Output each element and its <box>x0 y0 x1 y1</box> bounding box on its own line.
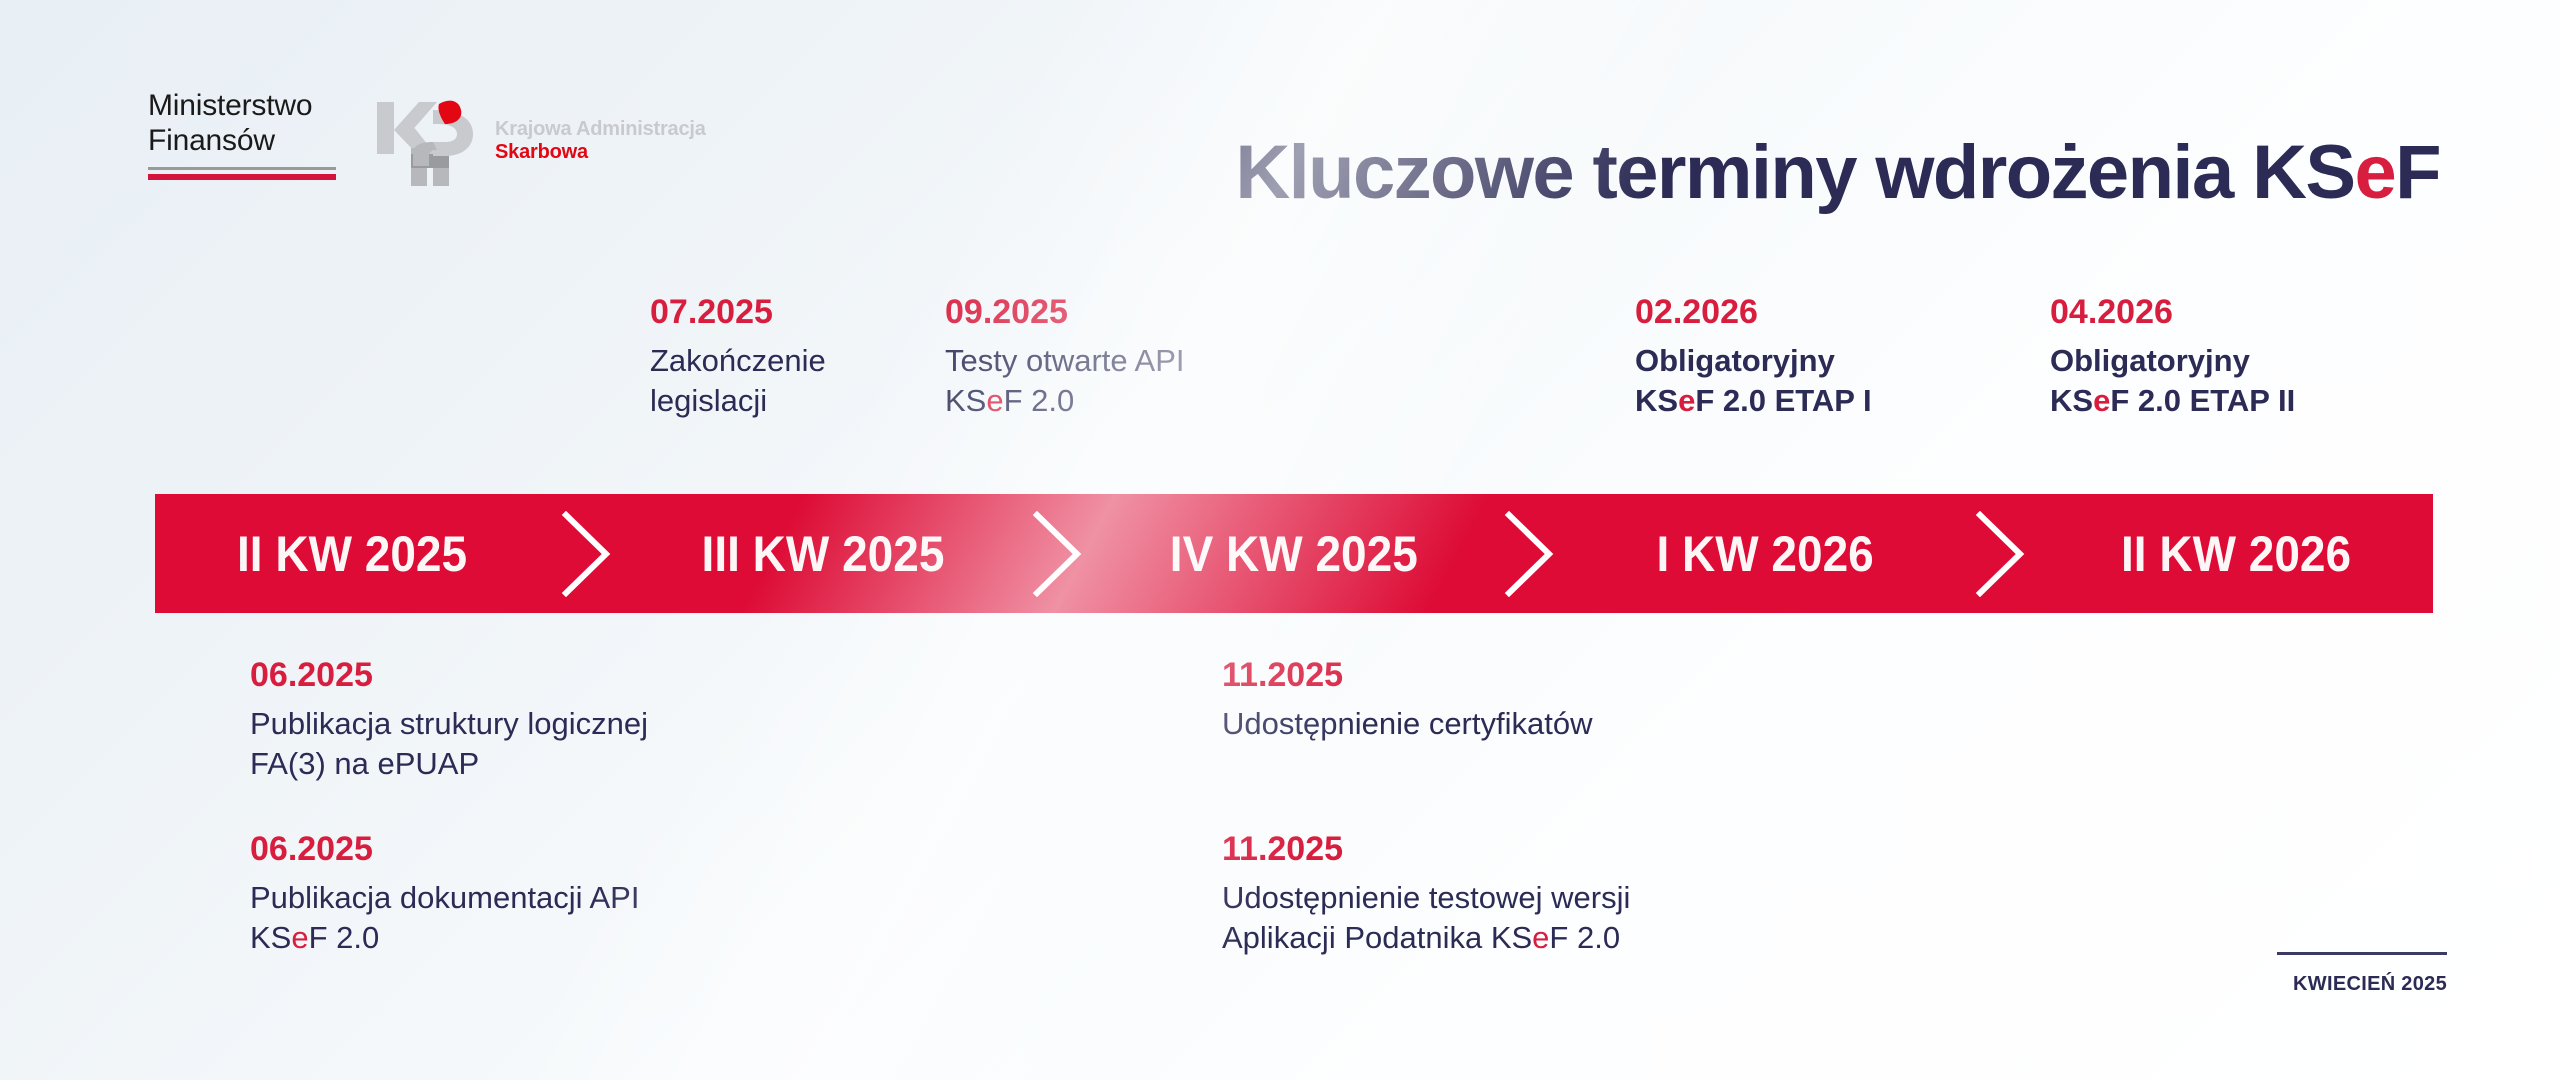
milestone-description: Testy otwarte APIKSeF 2.0 <box>945 341 1305 421</box>
milestone-text-line: KSeF 2.0 <box>250 918 870 958</box>
milestone-text-line: Zakończenie <box>650 341 930 381</box>
footer: KWIECIEŃ 2025 <box>2247 952 2447 996</box>
milestone-text-line: KSeF 2.0 <box>945 381 1305 421</box>
infographic-root: Ministerstwo Finansów <box>0 0 2560 1080</box>
milestone-06-2025: 06.2025Publikacja struktury logicznejFA(… <box>250 655 870 784</box>
milestone-text-highlight: e <box>2093 383 2110 418</box>
milestone-date: 07.2025 <box>650 292 930 332</box>
milestone-text-line: FA(3) na ePUAP <box>250 744 870 784</box>
milestone-text-run: Obligatoryjny <box>2050 343 2250 378</box>
timeline-segment: I KW 2026 <box>1569 494 1962 613</box>
milestone-text-line: Publikacja dokumentacji API <box>250 878 870 918</box>
timeline-segment-label: III KW 2025 <box>701 525 944 583</box>
milestone-04-2026: 04.2026ObligatoryjnyKSeF 2.0 ETAP II <box>2050 292 2450 421</box>
kas-logo: Krajowa Administracja Skarbowa <box>375 96 715 188</box>
milestone-description: Publikacja dokumentacji APIKSeF 2.0 <box>250 878 870 958</box>
milestone-07-2025: 07.2025Zakończenielegislacji <box>650 292 930 421</box>
milestone-11-2025: 11.2025Udostępnienie certyfikatów <box>1222 655 1842 744</box>
milestone-date: 04.2026 <box>2050 292 2450 332</box>
milestone-text-run: legislacji <box>650 383 767 418</box>
milestone-description: ObligatoryjnyKSeF 2.0 ETAP I <box>1635 341 2015 421</box>
ministry-logo-gray-rule <box>148 167 336 170</box>
milestone-text-line: Publikacja struktury logicznej <box>250 704 870 744</box>
milestone-description: Publikacja struktury logicznejFA(3) na e… <box>250 704 870 784</box>
milestone-date: 02.2026 <box>1635 292 2015 332</box>
milestone-02-2026: 02.2026ObligatoryjnyKSeF 2.0 ETAP I <box>1635 292 2015 421</box>
milestone-text-run: Aplikacji Podatnika KS <box>1222 920 1532 955</box>
ministry-of-finance-logo: Ministerstwo Finansów <box>148 88 348 180</box>
kas-logo-line1: Krajowa Administracja <box>495 118 706 141</box>
milestone-description: Udostępnienie testowej wersjiAplikacji P… <box>1222 878 1842 958</box>
milestone-09-2025: 09.2025Testy otwarte APIKSeF 2.0 <box>945 292 1305 421</box>
milestone-text-run: KS <box>2050 383 2093 418</box>
footer-date-label: KWIECIEŃ 2025 <box>2247 973 2447 996</box>
milestone-text-run: Publikacja struktury logicznej <box>250 706 648 741</box>
milestone-text-line: Obligatoryjny <box>2050 341 2450 381</box>
milestone-text-highlight: e <box>291 920 308 955</box>
chevron-right-icon <box>548 494 626 613</box>
timeline-segment: IV KW 2025 <box>1097 494 1490 613</box>
chevron-right-icon <box>1962 494 2040 613</box>
timeline-segment-label: II KW 2026 <box>2121 525 2351 583</box>
milestone-06-2025: 06.2025Publikacja dokumentacji APIKSeF 2… <box>250 829 870 958</box>
milestone-text-run: FA(3) na ePUAP <box>250 746 479 781</box>
milestone-text-highlight: e <box>1532 920 1549 955</box>
milestone-text-run: F 2.0 <box>1004 383 1075 418</box>
milestone-description: Udostępnienie certyfikatów <box>1222 704 1842 744</box>
page-title: Kluczowe terminy wdrożenia KSeF <box>700 129 2440 216</box>
milestone-text-line: Aplikacji Podatnika KSeF 2.0 <box>1222 918 1842 958</box>
milestone-text-highlight: e <box>986 383 1003 418</box>
page-title-prefix: Kluczowe terminy wdrożenia KS <box>1235 130 2354 215</box>
timeline-segment-label: I KW 2026 <box>1657 525 1874 583</box>
milestone-text-highlight: e <box>1678 383 1695 418</box>
milestone-text-run: Publikacja dokumentacji API <box>250 880 639 915</box>
timeline-segment: III KW 2025 <box>626 494 1019 613</box>
milestone-text-line: Udostępnienie testowej wersji <box>1222 878 1842 918</box>
ministry-logo-line2: Finansów <box>148 123 348 158</box>
page-title-highlight: e <box>2355 130 2396 215</box>
milestone-date: 11.2025 <box>1222 829 1842 869</box>
milestone-text-line: Testy otwarte API <box>945 341 1305 381</box>
milestone-date: 11.2025 <box>1222 655 1842 695</box>
milestone-text-line: Udostępnienie certyfikatów <box>1222 704 1842 744</box>
milestone-date: 06.2025 <box>250 829 870 869</box>
milestone-text-run: KS <box>1635 383 1678 418</box>
milestone-text-line: legislacji <box>650 381 930 421</box>
kas-logo-line2: Skarbowa <box>495 141 706 164</box>
milestone-text-run: Zakończenie <box>650 343 826 378</box>
page-title-suffix: F <box>2395 130 2440 215</box>
milestone-text-run: F 2.0 ETAP I <box>1695 383 1871 418</box>
ministry-logo-red-rule <box>148 174 336 180</box>
milestone-date: 09.2025 <box>945 292 1305 332</box>
timeline-bar: II KW 2025III KW 2025IV KW 2025I KW 2026… <box>155 494 2433 613</box>
timeline-segment: II KW 2026 <box>2040 494 2433 613</box>
milestone-text-run: F 2.0 <box>1549 920 1620 955</box>
chevron-right-icon <box>1019 494 1097 613</box>
milestone-11-2025: 11.2025Udostępnienie testowej wersjiApli… <box>1222 829 1842 958</box>
ministry-logo-line1: Ministerstwo <box>148 88 348 123</box>
kas-logo-text: Krajowa Administracja Skarbowa <box>495 118 706 164</box>
milestone-text-line: KSeF 2.0 ETAP II <box>2050 381 2450 421</box>
milestone-text-run: KS <box>945 383 986 418</box>
milestone-text-run: Udostępnienie certyfikatów <box>1222 706 1592 741</box>
footer-rule <box>2277 952 2447 955</box>
milestone-text-run: Obligatoryjny <box>1635 343 1835 378</box>
milestone-text-line: Obligatoryjny <box>1635 341 2015 381</box>
kas-emblem-icon <box>375 96 487 188</box>
milestone-text-run: F 2.0 <box>309 920 380 955</box>
milestone-text-run: F 2.0 ETAP II <box>2110 383 2295 418</box>
milestone-text-run: Testy otwarte API <box>945 343 1185 378</box>
milestone-date: 06.2025 <box>250 655 870 695</box>
timeline-segment: II KW 2025 <box>155 494 548 613</box>
timeline-segment-label: IV KW 2025 <box>1170 525 1418 583</box>
milestone-description: ObligatoryjnyKSeF 2.0 ETAP II <box>2050 341 2450 421</box>
milestone-description: Zakończenielegislacji <box>650 341 930 421</box>
milestone-text-run: Udostępnienie testowej wersji <box>1222 880 1630 915</box>
milestone-text-run: KS <box>250 920 291 955</box>
milestone-text-line: KSeF 2.0 ETAP I <box>1635 381 2015 421</box>
chevron-right-icon <box>1491 494 1569 613</box>
timeline-segment-label: II KW 2025 <box>237 525 467 583</box>
